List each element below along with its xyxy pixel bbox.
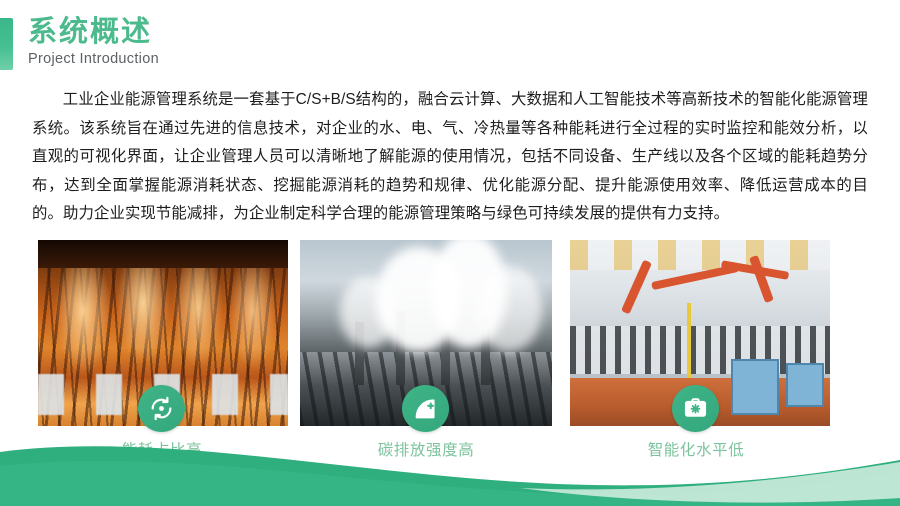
badge-3 <box>672 385 719 432</box>
badge-1 <box>138 385 185 432</box>
toolbox-gear-icon <box>683 396 708 421</box>
badge-2 <box>402 385 449 432</box>
title-accent-bar <box>0 18 13 70</box>
body-paragraph: 工业企业能源管理系统是一套基于C/S+B/S结构的，融合云计算、大数据和人工智能… <box>32 86 868 229</box>
photo-card-row <box>0 240 900 426</box>
slide-header: 系统概述 Project Introduction <box>28 16 159 67</box>
slide-root: 系统概述 Project Introduction 工业企业能源管理系统是一套基… <box>0 0 900 506</box>
satellite-dish-icon <box>413 396 438 421</box>
page-subtitle: Project Introduction <box>28 51 159 67</box>
bottom-wave-decoration <box>0 426 900 506</box>
page-title: 系统概述 <box>28 16 159 49</box>
sync-icon <box>149 396 174 421</box>
